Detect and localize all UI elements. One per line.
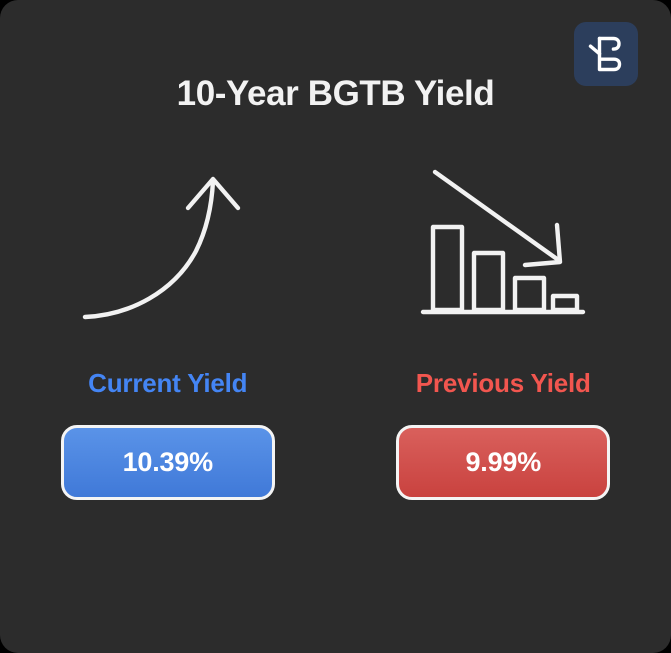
metric-value-pill-previous-yield: 9.99%	[396, 425, 610, 500]
declining-bar-chart-icon	[408, 160, 598, 335]
metric-current-yield: Current Yield 10.39%	[0, 160, 336, 500]
metric-previous-yield: Previous Yield 9.99%	[336, 160, 671, 500]
metric-value-pill-current-yield: 10.39%	[61, 425, 275, 500]
yield-comparison-card: 10-Year BGTB Yield Current Yield 10.39%	[0, 0, 671, 653]
metric-value-current-yield: 10.39%	[123, 447, 213, 478]
metrics-row: Current Yield 10.39%	[0, 160, 671, 500]
page-title: 10-Year BGTB Yield	[0, 74, 671, 114]
metric-value-previous-yield: 9.99%	[465, 447, 541, 478]
metric-label-previous-yield: Previous Yield	[416, 368, 591, 399]
logo-b-icon	[585, 33, 627, 75]
metric-label-current-yield: Current Yield	[88, 368, 247, 399]
rising-curve-arrow-icon	[73, 160, 263, 335]
